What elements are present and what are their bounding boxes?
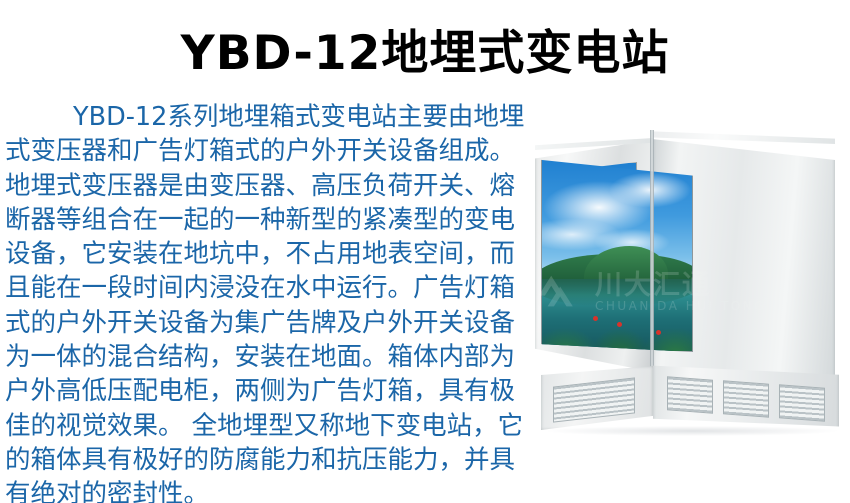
- description-line: 的箱体具有极好的防腐能力和抗压能力，并具: [5, 443, 510, 477]
- description-line: 设备，它安装在地坑中，不占用地表空间，而: [5, 237, 510, 271]
- scene-buoy: [617, 322, 622, 327]
- ventilation-louver: [723, 380, 769, 417]
- description-line: 为一体的混合结构，安装在地面。箱体内部为: [5, 340, 510, 374]
- ventilation-louver: [779, 384, 825, 421]
- cabinet-top-cap-right: [653, 126, 835, 144]
- page-title: YBD-12地埋式变电站: [0, 26, 850, 82]
- ventilation-louver: [667, 376, 713, 413]
- ground-shadow: [547, 426, 837, 436]
- cabinet-corner-seam: [650, 130, 654, 382]
- description-line: 地埋式变压器是由变压器、高压负荷开关、熔: [5, 169, 510, 203]
- scene-hills-far: [584, 246, 668, 281]
- description-line: 佳的视觉效果。 全地埋型又称地下变电站，它: [5, 409, 510, 443]
- description-line: 且能在一段时间内浸没在水中运行。广告灯箱: [5, 271, 510, 305]
- light-box-scene-right: [542, 157, 692, 351]
- description-line: 断器等组合在一起的一种新型的紧凑型的变电: [5, 203, 510, 237]
- description-line: 有绝对的密封性。: [5, 477, 510, 503]
- product-photo: 川大汇通 CHUAN DA HUI TONG: [527, 126, 839, 456]
- right-light-box: [541, 156, 693, 352]
- description-line: 户外高低压配电柜，两侧为广告灯箱，具有极: [5, 374, 510, 408]
- scene-buoy: [656, 330, 661, 335]
- description-line: YBD-12系列地埋箱式变电站主要由地埋: [5, 100, 510, 134]
- product-info-page: YBD-12地埋式变电站 YBD-12系列地埋箱式变电站主要由地埋 式变压器和广…: [0, 0, 850, 503]
- description-line: 式的户外开关设备为集广告牌及户外开关设备: [5, 306, 510, 340]
- description-line: 式变压器和广告灯箱式的户外开关设备组成。: [5, 134, 510, 168]
- product-description: YBD-12系列地埋箱式变电站主要由地埋 式变压器和广告灯箱式的户外开关设备组成…: [5, 100, 510, 503]
- substation-cabinet: 川大汇通 CHUAN DA HUI TONG: [527, 126, 839, 456]
